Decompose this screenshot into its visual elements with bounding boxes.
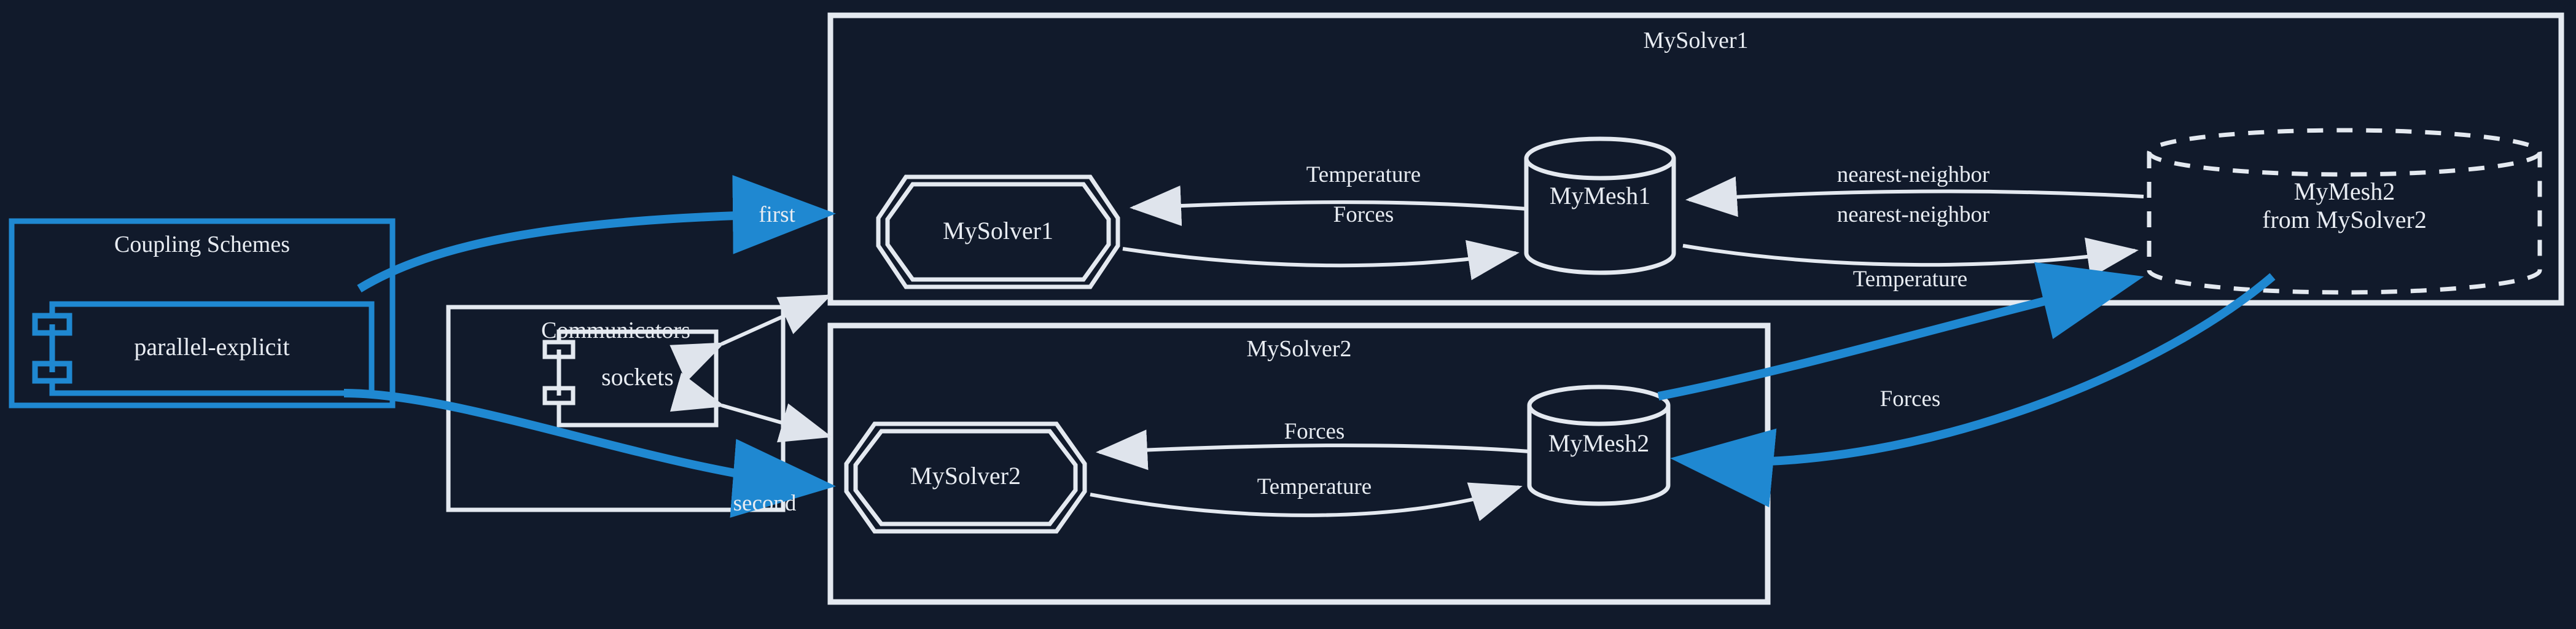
- edge-label-nearest-neighbor-top: nearest-neighbor: [1738, 163, 2088, 187]
- node-label-mymesh2-remote-line2: from MySolver2: [2149, 206, 2540, 233]
- group-label-mysolver2: MySolver2: [830, 337, 1768, 362]
- group-label-mysolver1: MySolver1: [830, 28, 2561, 53]
- node-label-mysolver1: MySolver1: [878, 217, 1118, 244]
- group-label-communicators: Communicators: [448, 318, 783, 343]
- edge-label-forces-mesh1: Forces: [1296, 203, 1431, 227]
- group-label-coupling-schemes: Coupling Schemes: [12, 232, 392, 257]
- edge-label-first: first: [728, 203, 826, 227]
- node-label-parallel-explicit: parallel-explicit: [52, 334, 372, 360]
- edge-label-forces-mesh2: Forces: [1247, 420, 1382, 444]
- edge-label-second: second: [700, 491, 829, 516]
- diagram-svg: [0, 0, 2576, 629]
- edge-sockets-to-mysolver2: [722, 405, 829, 436]
- edge-nn-remote-to-mesh1: [1689, 192, 2144, 200]
- node-label-mymesh2: MyMesh2: [1529, 430, 1668, 456]
- edge-label-remote-temperature: Temperature: [1787, 267, 2033, 292]
- node-label-mysolver2: MySolver2: [846, 463, 1085, 489]
- edge-forces-mesh2-to-solver2: [1099, 445, 1529, 452]
- edge-nn-mesh1-to-remote: [1683, 246, 2135, 265]
- edge-forces-solver1-to-mesh1: [1123, 249, 1516, 265]
- group-mysolver1-border: [830, 15, 2561, 303]
- node-label-mymesh1: MyMesh1: [1526, 182, 1674, 209]
- edge-label-nearest-neighbor-bottom: nearest-neighbor: [1738, 203, 2088, 227]
- node-label-mymesh2-remote-line1: MyMesh2: [2149, 178, 2540, 205]
- edge-label-blue-forces: Forces: [1843, 387, 1978, 412]
- diagram-canvas: Coupling Schemes parallel-explicit Commu…: [0, 0, 2576, 629]
- edge-second-blue: [344, 393, 823, 485]
- node-label-sockets: sockets: [559, 364, 716, 390]
- edge-label-temperature-mesh2: Temperature: [1192, 475, 1437, 499]
- edge-label-temperature-mesh1: Temperature: [1241, 163, 1486, 187]
